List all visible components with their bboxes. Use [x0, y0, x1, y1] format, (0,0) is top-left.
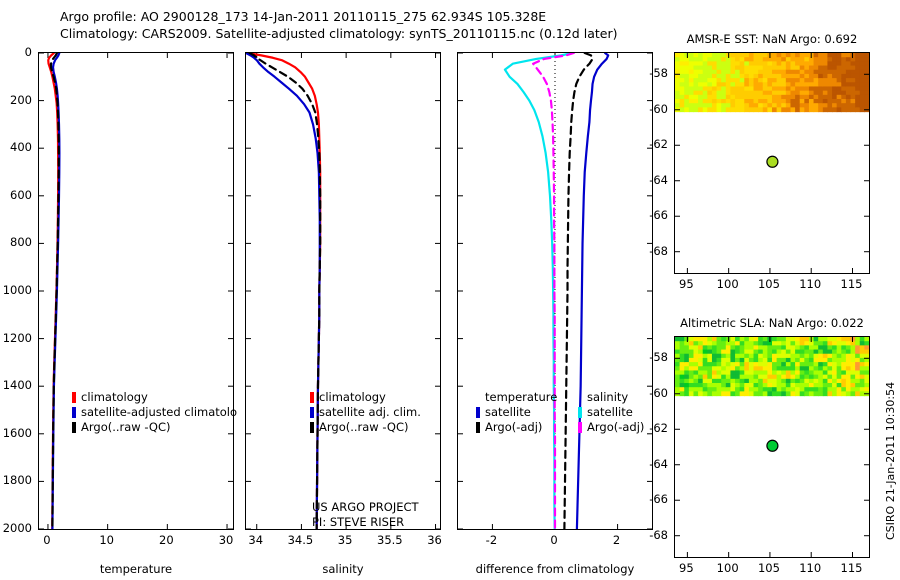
legend-item-satellite: satellite-adjusted climatolo	[72, 405, 237, 420]
lon-tick-label: 95	[679, 277, 694, 291]
lon-tick-label: 110	[799, 561, 821, 575]
lon-tick-label: 110	[799, 277, 821, 291]
sla-map-panel[interactable]	[674, 336, 870, 558]
footer-line-2: PI: STEVE RISER	[312, 515, 419, 530]
x-tick-label: 20	[159, 533, 174, 547]
lat-tick-label: -68	[649, 528, 668, 542]
x-tick-label: 36	[427, 533, 442, 547]
depth-tick-label: 2000	[3, 521, 32, 535]
series-salinity-satellite	[505, 53, 572, 529]
legend-item-satellite: satellite adj. clim.	[310, 405, 421, 420]
sla-map-title: Altimetric SLA: NaN Argo: 0.022	[674, 316, 870, 330]
legend-label: Argo(..raw -QC)	[319, 420, 409, 435]
legend-item-temperature-satellite: satellite	[476, 405, 557, 420]
legend-label: Argo(..raw -QC)	[81, 420, 171, 435]
legend-item-temperature-argo: Argo(-adj)	[476, 420, 557, 435]
salinity-satellite-swatch	[578, 407, 582, 418]
footer-line-1: US ARGO PROJECT	[312, 500, 419, 515]
temperature-axis-label: temperature	[38, 562, 234, 576]
series-satellite-adj-clim-	[246, 53, 320, 529]
difference-from-climatology-plot	[458, 53, 652, 529]
profile-location-marker	[767, 156, 778, 167]
argo-swatch	[72, 422, 76, 433]
satellite-swatch	[72, 407, 76, 418]
temperature-panel[interactable]	[38, 52, 234, 530]
altimetric-sla-map-plot	[675, 337, 869, 557]
legend-item-argo: Argo(..raw -QC)	[72, 420, 237, 435]
x-tick-label: 35	[338, 533, 353, 547]
climatology-swatch	[72, 392, 76, 403]
legend-label: satellite-adjusted climatolo	[81, 405, 237, 420]
salinity-panel[interactable]	[245, 52, 441, 530]
title-line-1: Argo profile: AO 2900128_173 14-Jan-2011…	[60, 8, 680, 25]
legend-label: Argo(-adj)	[485, 420, 542, 435]
difference-axis-label: difference from climatology	[457, 562, 653, 576]
climatology-swatch	[310, 392, 314, 403]
x-tick-label: 0	[43, 533, 50, 547]
salinity-legend: climatology satellite adj. clim. Argo(..…	[310, 390, 421, 435]
lat-tick-label: -62	[649, 137, 668, 151]
legend-item-argo: Argo(..raw -QC)	[310, 420, 421, 435]
spacer	[476, 392, 480, 403]
lon-tick-label: 100	[717, 277, 739, 291]
depth-tick-label: 0	[25, 45, 32, 59]
x-tick-label: 2	[613, 533, 620, 547]
legend-header-temperature: temperature	[476, 390, 557, 405]
lat-tick-label: -60	[649, 102, 668, 116]
legend-label: satellite	[485, 405, 531, 420]
depth-tick-label: 1000	[3, 283, 32, 297]
salinity-profile-plot	[246, 53, 440, 529]
legend-header-salinity: salinity	[578, 390, 644, 405]
lat-tick-label: -64	[649, 173, 668, 187]
argo-swatch	[310, 422, 314, 433]
series-temperature-satellite	[577, 53, 608, 529]
legend-item-climatology: climatology	[310, 390, 421, 405]
depth-tick-label: 1800	[3, 473, 32, 487]
x-tick-label: 34	[248, 533, 263, 547]
amsr-e-sst-map-plot	[675, 53, 869, 273]
legend-item-salinity-argo: Argo(-adj)	[578, 420, 644, 435]
series-climatology	[248, 53, 320, 529]
spacer	[578, 392, 582, 403]
lat-tick-label: -64	[649, 457, 668, 471]
sst-map-panel[interactable]	[674, 52, 870, 274]
temperature-argo-swatch	[476, 422, 480, 433]
depth-tick-label: 1200	[3, 331, 32, 345]
depth-tick-label: 400	[10, 140, 32, 154]
satellite-swatch	[310, 407, 314, 418]
depth-tick-label: 600	[10, 188, 32, 202]
legend-label: climatology	[81, 390, 148, 405]
x-tick-label: 0	[550, 533, 557, 547]
legend-label: temperature	[485, 390, 557, 405]
lat-tick-label: -58	[649, 350, 668, 364]
title-line-2: Climatology: CARS2009. Satellite-adjuste…	[60, 25, 680, 42]
lat-tick-label: -66	[649, 208, 668, 222]
x-tick-label: 35.5	[377, 533, 403, 547]
difference-legend-salinity: salinity satellite Argo(-adj)	[578, 390, 644, 435]
legend-label: salinity	[587, 390, 628, 405]
difference-panel[interactable]	[457, 52, 653, 530]
page-title: Argo profile: AO 2900128_173 14-Jan-2011…	[60, 8, 680, 42]
project-footer: US ARGO PROJECT PI: STEVE RISER	[312, 500, 419, 530]
lat-tick-label: -66	[649, 492, 668, 506]
temperature-profile-plot	[39, 53, 233, 529]
salinity-axis-label: salinity	[245, 562, 441, 576]
lon-tick-label: 105	[758, 277, 780, 291]
lat-tick-label: -58	[649, 66, 668, 80]
x-tick-label: 30	[219, 533, 234, 547]
lon-tick-label: 115	[841, 561, 863, 575]
temperature-legend: climatology satellite-adjusted climatolo…	[72, 390, 237, 435]
depth-tick-label: 1400	[3, 378, 32, 392]
difference-legend-temperature: temperature satellite Argo(-adj)	[476, 390, 557, 435]
sst-map-title: AMSR-E SST: NaN Argo: 0.692	[674, 32, 870, 46]
x-tick-label: 34.5	[288, 533, 314, 547]
profile-location-marker	[767, 440, 778, 451]
legend-item-salinity-satellite: satellite	[578, 405, 644, 420]
lon-tick-label: 100	[717, 561, 739, 575]
depth-tick-label: 1600	[3, 426, 32, 440]
lon-tick-label: 115	[841, 277, 863, 291]
lat-tick-label: -62	[649, 421, 668, 435]
legend-label: climatology	[319, 390, 386, 405]
lat-tick-label: -68	[649, 244, 668, 258]
lon-tick-label: 95	[679, 561, 694, 575]
depth-tick-label: 800	[10, 235, 32, 249]
csiro-timestamp: CSIRO 21-Jan-2011 10:30:54	[884, 382, 897, 540]
x-tick-label: 10	[99, 533, 114, 547]
legend-label: satellite adj. clim.	[319, 405, 421, 420]
legend-label: Argo(-adj)	[587, 420, 644, 435]
lat-tick-label: -60	[649, 386, 668, 400]
lon-tick-label: 105	[758, 561, 780, 575]
salinity-argo-swatch	[578, 422, 582, 433]
x-tick-label: -2	[486, 533, 497, 547]
legend-item-climatology: climatology	[72, 390, 237, 405]
legend-label: satellite	[587, 405, 633, 420]
series-argo-raw-qc-	[250, 53, 321, 529]
depth-tick-label: 200	[10, 93, 32, 107]
temperature-satellite-swatch	[476, 407, 480, 418]
